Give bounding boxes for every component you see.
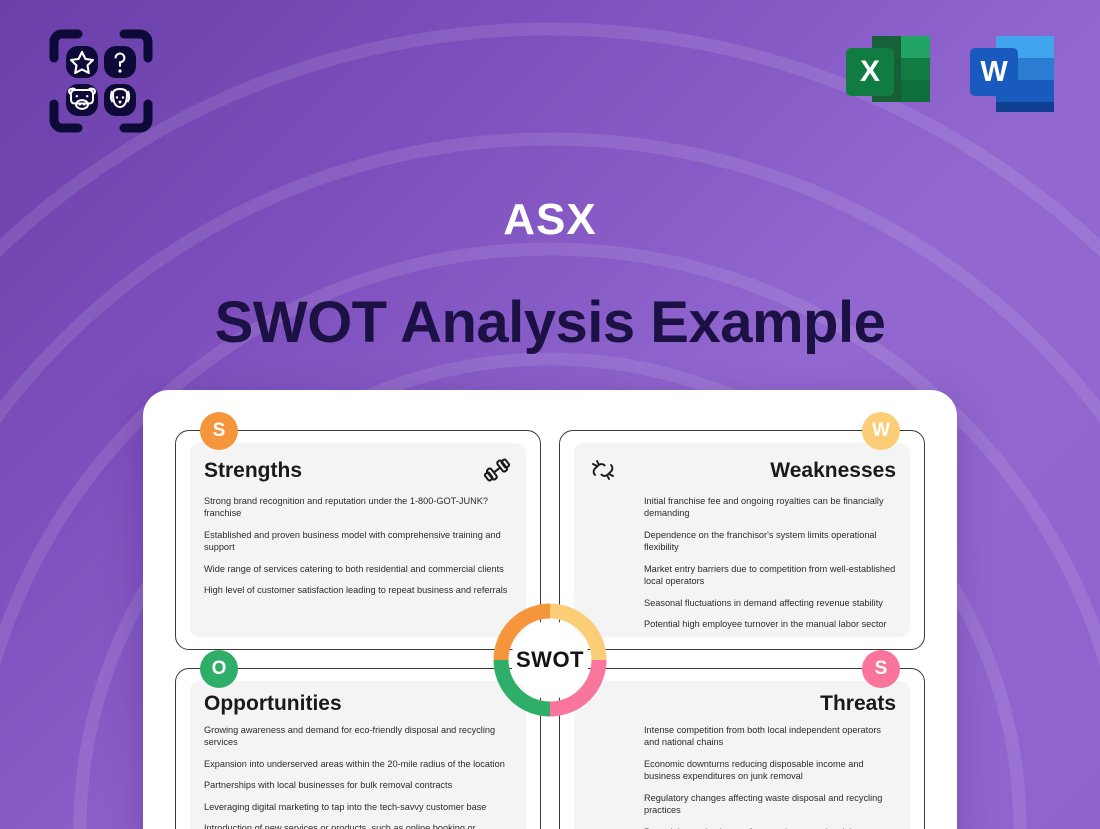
quadrant-title-weaknesses: Weaknesses <box>626 460 896 481</box>
list-item: Wide range of services catering to both … <box>204 563 512 575</box>
dumbbell-icon <box>482 455 512 485</box>
quadrant-list-strengths: Strong brand recognition and reputation … <box>204 495 512 597</box>
quadrant-strengths[interactable]: S Strengths <box>175 430 541 650</box>
quadrant-title-threats: Threats <box>588 693 896 714</box>
quadrant-opportunities[interactable]: O Opportunities Growing awareness and de… <box>175 668 541 829</box>
word-icon[interactable]: W <box>964 28 1060 124</box>
list-item: Initial franchise fee and ongoing royalt… <box>588 495 896 520</box>
list-item: Potential high employee turnover in the … <box>588 618 896 630</box>
list-item: Regulatory changes affecting waste dispo… <box>588 792 896 817</box>
swot-center-label: SWOT <box>511 621 589 699</box>
list-item: Introduction of new services or products… <box>204 822 512 829</box>
brand-logo[interactable] <box>48 28 154 134</box>
badge-opportunities-letter: O <box>212 658 227 680</box>
quad-pets-scan-icon <box>48 28 154 134</box>
list-item: Seasonal fluctuations in demand affectin… <box>588 597 896 609</box>
quadrant-list-weaknesses: Initial franchise fee and ongoing royalt… <box>588 495 896 630</box>
list-item: Leveraging digital marketing to tap into… <box>204 801 512 813</box>
list-item: Market entry barriers due to competition… <box>588 563 896 588</box>
list-item: High level of customer satisfaction lead… <box>204 584 512 596</box>
eyebrow-title: ASX <box>0 198 1100 242</box>
list-item: Potential negative impact from environme… <box>588 826 896 829</box>
quadrant-weaknesses[interactable]: W Weaknesses <box>559 430 925 650</box>
badge-weaknesses-letter: W <box>872 420 890 442</box>
badge-threats-letter: S <box>875 658 888 680</box>
header-block: ASX SWOT Analysis Example <box>0 198 1100 352</box>
quadrant-title-strengths: Strengths <box>204 460 474 481</box>
poster-root: X W ASX SWOT Analysis Example S <box>0 0 1100 829</box>
broken-link-icon <box>588 455 618 485</box>
list-item: Dependence on the franchisor's system li… <box>588 529 896 554</box>
quadrant-threats[interactable]: S Threats Intense competition from both … <box>559 668 925 829</box>
list-item: Intense competition from both local inde… <box>588 724 896 749</box>
svg-text:W: W <box>980 56 1008 88</box>
list-item: Established and proven business model wi… <box>204 529 512 554</box>
badge-threats: S <box>862 650 900 688</box>
swot-quadrant-grid: S Strengths <box>175 430 925 829</box>
badge-opportunities: O <box>200 650 238 688</box>
list-item: Strong brand recognition and reputation … <box>204 495 512 520</box>
page-title: SWOT Analysis Example <box>0 294 1100 352</box>
swot-center-donut: SWOT <box>491 601 609 719</box>
list-item: Partnerships with local businesses for b… <box>204 779 512 791</box>
svg-text:X: X <box>860 55 880 88</box>
quadrant-list-threats: Intense competition from both local inde… <box>588 724 896 829</box>
office-icons-group: X W <box>840 28 1060 124</box>
list-item: Economic downturns reducing disposable i… <box>588 758 896 783</box>
list-item: Growing awareness and demand for eco-fri… <box>204 724 512 749</box>
list-item: Expansion into underserved areas within … <box>204 758 512 770</box>
swot-card: S Strengths <box>143 390 957 829</box>
excel-icon[interactable]: X <box>840 28 936 124</box>
badge-strengths-letter: S <box>213 420 226 442</box>
quadrant-list-opportunities: Growing awareness and demand for eco-fri… <box>204 724 512 829</box>
badge-weaknesses: W <box>862 412 900 450</box>
quadrant-title-opportunities: Opportunities <box>204 693 512 714</box>
badge-strengths: S <box>200 412 238 450</box>
